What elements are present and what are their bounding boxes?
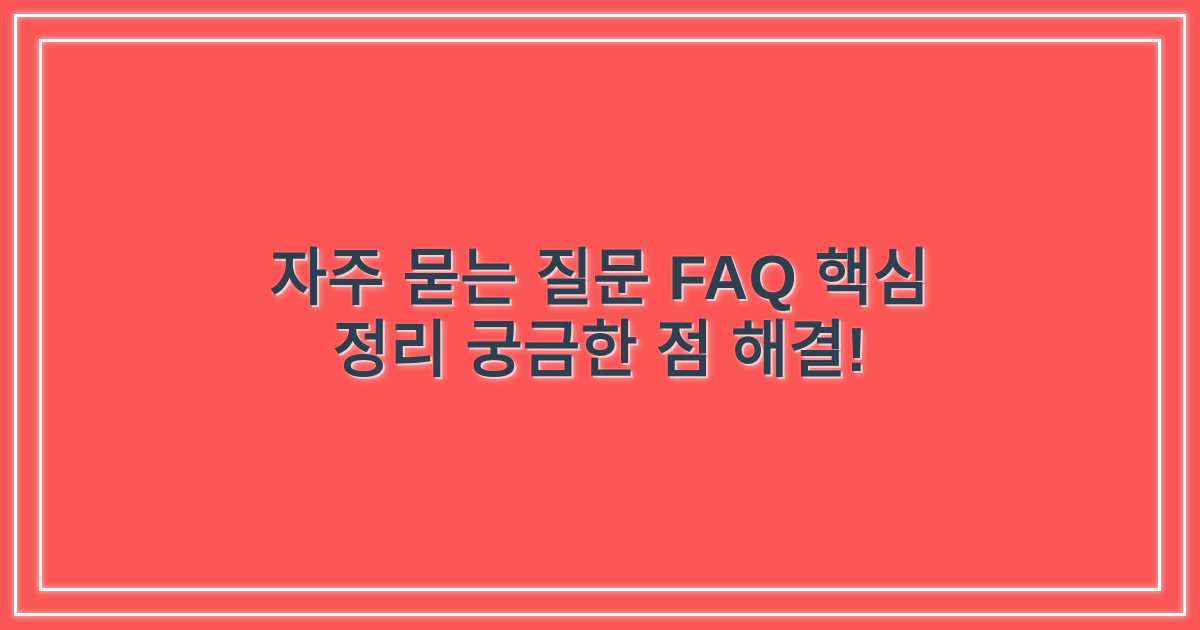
- banner-content: 자주 묻는 질문 FAQ 핵심 정리 궁금한 점 해결!: [0, 0, 1200, 630]
- faq-banner: 자주 묻는 질문 FAQ 핵심 정리 궁금한 점 해결!: [0, 0, 1200, 630]
- banner-headline: 자주 묻는 질문 FAQ 핵심 정리 궁금한 점 해결!: [260, 243, 940, 387]
